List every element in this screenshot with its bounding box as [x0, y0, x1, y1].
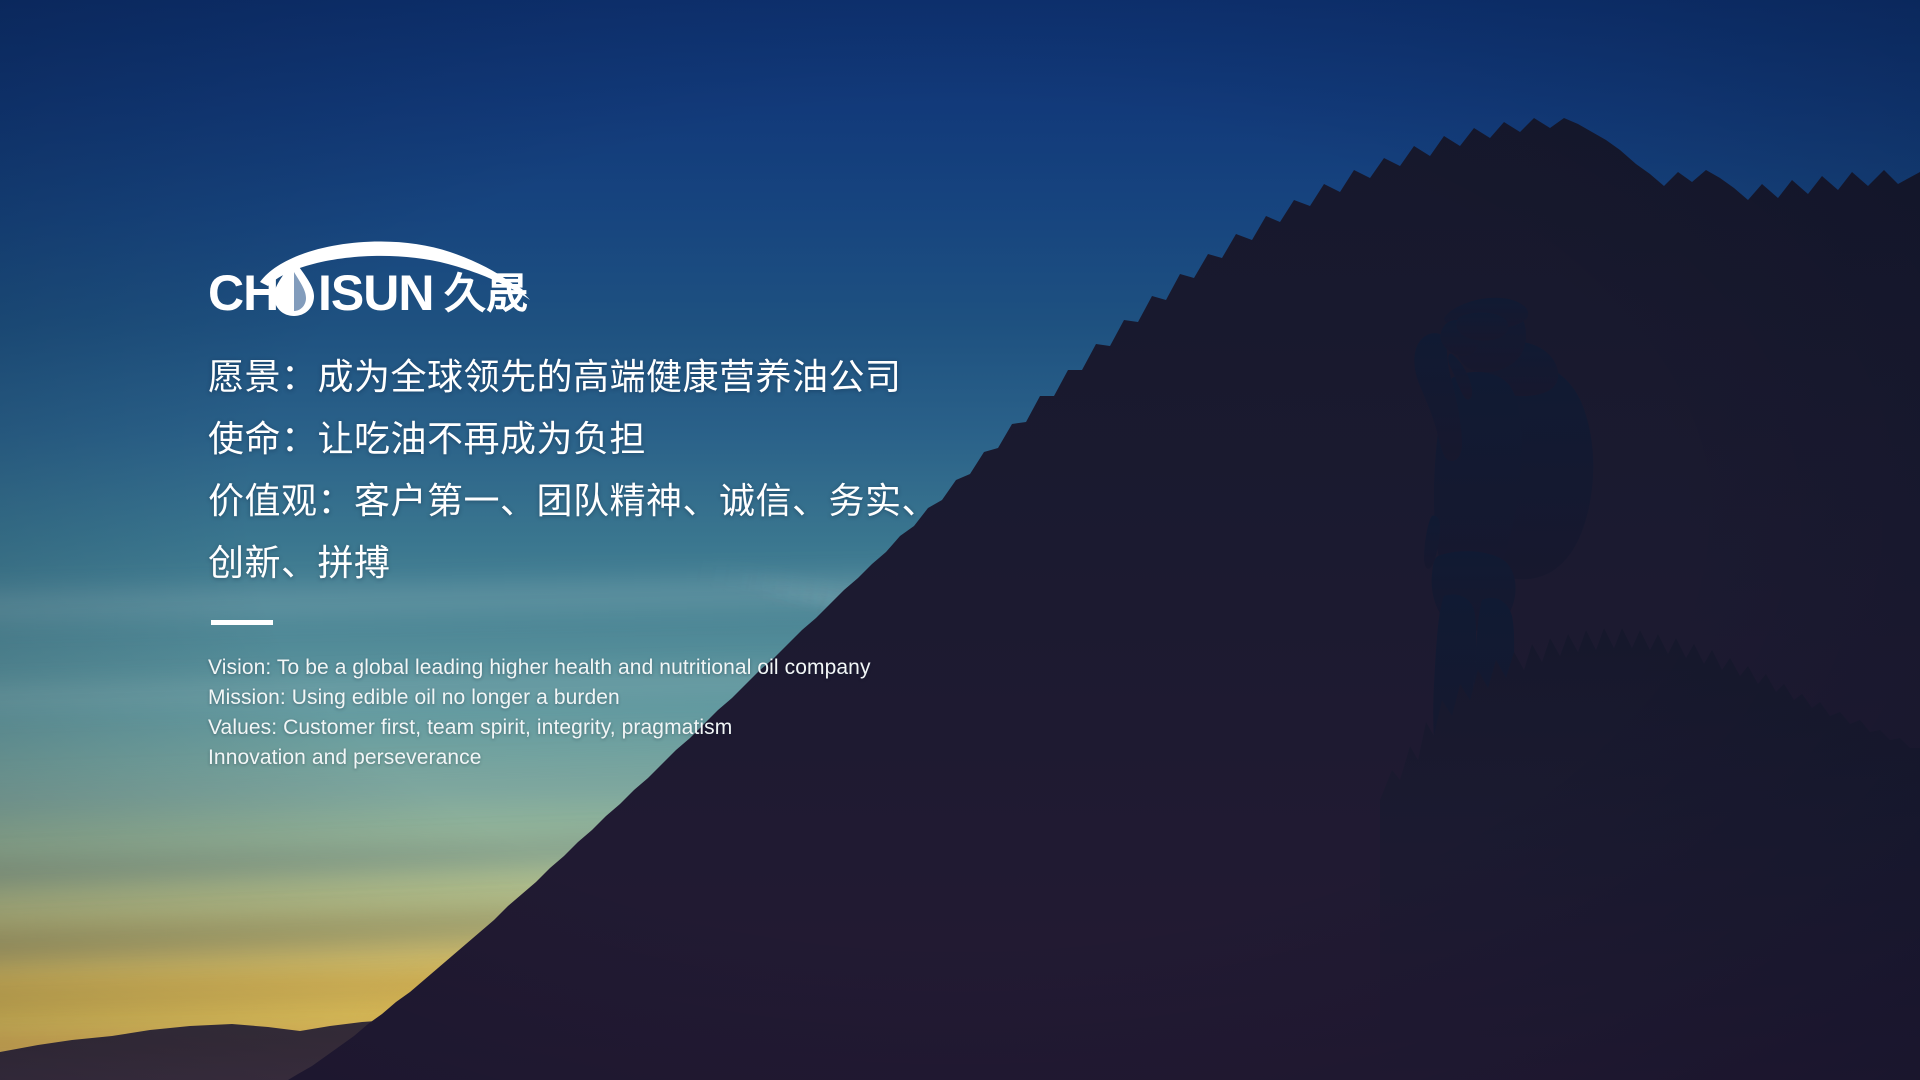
chinese-statement: 愿景：成为全球领先的高端健康营养油公司 使命：让吃油不再成为负担 价值观：客户第… [208, 346, 1208, 594]
divider-rule [211, 620, 273, 625]
english-statement: Vision: To be a global leading higher he… [208, 653, 1208, 773]
cn-mission-line: 使命：让吃油不再成为负担 [208, 408, 1208, 470]
content-block: CH ISUN 久晟 愿景：成为全球领先的高端健康营养油公司 使命：让吃油不再成… [208, 236, 1208, 773]
slide-canvas: CH ISUN 久晟 愿景：成为全球领先的高端健康营养油公司 使命：让吃油不再成… [0, 0, 1920, 1080]
cn-values-line-1: 价值观：客户第一、团队精神、诚信、务实、 [208, 470, 1208, 532]
logo-wordmark-text-2: ISUN [318, 265, 433, 318]
en-values-line-1: Values: Customer first, team spirit, int… [208, 713, 1208, 743]
en-vision-line: Vision: To be a global leading higher he… [208, 653, 1208, 683]
logo-cn-text: 久晟 [444, 270, 528, 317]
cn-vision-line: 愿景：成为全球领先的高端健康营养油公司 [208, 346, 1208, 408]
company-logo[interactable]: CH ISUN 久晟 [208, 236, 553, 318]
cn-values-line-2: 创新、拼搏 [208, 532, 1208, 594]
en-values-line-2: Innovation and perseverance [208, 743, 1208, 773]
logo-artwork: CH ISUN 久晟 [208, 236, 553, 318]
logo-wordmark-text: CH [208, 265, 278, 318]
en-mission-line: Mission: Using edible oil no longer a bu… [208, 683, 1208, 713]
